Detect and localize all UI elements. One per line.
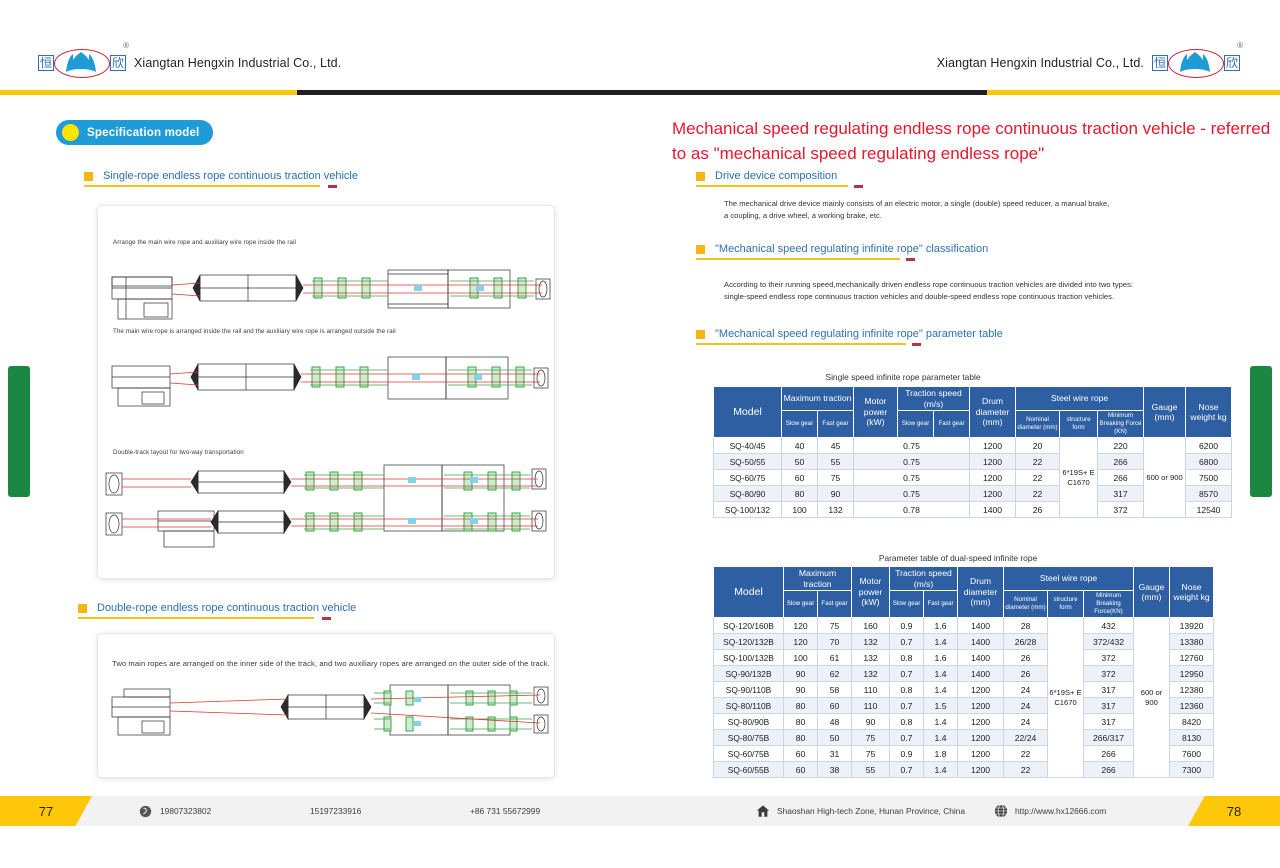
cell-breaking-force: 266 xyxy=(1084,746,1134,762)
cell-nominal-diameter: 22 xyxy=(1016,454,1060,470)
section-double-rope: Double-rope endless rope continuous trac… xyxy=(78,602,356,620)
table-row: SQ-40/4540450.751200206*19S+ E C16702206… xyxy=(714,438,1232,454)
cell-nose-weight: 7300 xyxy=(1170,762,1214,778)
footer-phone3: +86 731 55672999 xyxy=(470,796,540,826)
cell-breaking-force: 372 xyxy=(1084,666,1134,682)
catalog-page: 恒 ® 欣 Xiangtan Hengxin Industrial Co., L… xyxy=(0,0,1280,868)
cell-breaking-force: 220 xyxy=(1098,438,1144,454)
single-speed-parameter-table: Model Maximum traction Motor power (kW) … xyxy=(713,386,1232,518)
section-underline xyxy=(78,617,356,620)
cell-model: SQ-90/132B xyxy=(714,666,784,682)
section-single-rope: Single-rope endless rope continuous trac… xyxy=(84,170,358,188)
footer-website[interactable]: http://www.hx12666.com xyxy=(993,796,1106,826)
dual-speed-parameter-table: Model Maximum traction Motor power (kW) … xyxy=(713,566,1214,778)
side-tab-left xyxy=(8,366,30,497)
cell-nominal-diameter: 22 xyxy=(1004,762,1048,778)
diagram-box-single-rope: Arrange the main wire rope and auxiliary… xyxy=(97,205,555,579)
cell-speed-fast: 1.4 xyxy=(924,634,958,650)
section-classification: "Mechanical speed regulating infinite ro… xyxy=(696,243,988,261)
cell-structure-form: 6*19S+ E C1670 xyxy=(1048,618,1084,778)
cell-motor-power-speed: 0.75 xyxy=(854,454,970,470)
cell-model: SQ-80/110B xyxy=(714,698,784,714)
cell-breaking-force: 266/317 xyxy=(1084,730,1134,746)
cell-drum-diameter: 1200 xyxy=(970,470,1016,486)
schematic-drawing-1 xyxy=(98,252,554,352)
divider-black-right xyxy=(642,90,987,95)
th-nominal-diameter: Nominal diameter (mm) xyxy=(1016,411,1060,438)
cell-fast-gear: 58 xyxy=(818,682,852,698)
cell-motor-power: 75 xyxy=(852,730,890,746)
cell-slow-gear: 60 xyxy=(782,470,818,486)
th-max-traction: Maximum traction xyxy=(782,387,854,411)
cell-nose-weight: 13380 xyxy=(1170,634,1214,650)
header-divider xyxy=(0,90,1280,96)
th-steel-wire-rope: Steel wire rope xyxy=(1004,567,1134,591)
cell-slow-gear: 60 xyxy=(784,762,818,778)
cell-nose-weight: 12540 xyxy=(1186,502,1232,518)
cell-model: SQ-120/132B xyxy=(714,634,784,650)
th-motor-power: Motor power (kW) xyxy=(852,567,890,618)
bullet-square-icon xyxy=(78,604,87,613)
cell-nominal-diameter: 22 xyxy=(1016,486,1060,502)
cell-model: SQ-80/90 xyxy=(714,486,782,502)
footer-phone1: 19807323802 xyxy=(138,796,211,826)
th-slow-gear: Slow gear xyxy=(784,591,818,618)
cell-motor-power: 55 xyxy=(852,762,890,778)
section-title: Double-rope endless rope continuous trac… xyxy=(97,602,356,614)
cell-slow-gear: 80 xyxy=(782,486,818,502)
cell-fast-gear: 48 xyxy=(818,714,852,730)
cell-slow-gear: 40 xyxy=(782,438,818,454)
cell-nominal-diameter: 22 xyxy=(1004,746,1048,762)
th-max-traction: Maximum traction xyxy=(784,567,852,591)
cell-motor-power-speed: 0.75 xyxy=(854,438,970,454)
th-gauge: Gauge (mm) xyxy=(1144,387,1186,438)
schematic-drawing-2 xyxy=(98,341,554,441)
cell-fast-gear: 75 xyxy=(818,470,854,486)
cell-nose-weight: 8570 xyxy=(1186,486,1232,502)
cell-nominal-diameter: 26 xyxy=(1016,502,1060,518)
logo-char-right: 欣 xyxy=(1224,55,1240,71)
cell-nose-weight: 6800 xyxy=(1186,454,1232,470)
cell-breaking-force: 266 xyxy=(1098,454,1144,470)
cell-fast-gear: 132 xyxy=(818,502,854,518)
bullet-square-icon xyxy=(696,330,705,339)
th-traction-speed: Traction speed (m/s) xyxy=(898,387,970,411)
cell-nose-weight: 6200 xyxy=(1186,438,1232,454)
th-model: Model xyxy=(714,387,782,438)
cell-motor-power-speed: 0.75 xyxy=(854,470,970,486)
cell-model: SQ-80/75B xyxy=(714,730,784,746)
drive-paragraph: The mechanical drive device mainly consi… xyxy=(724,198,1244,222)
cell-nose-weight: 7500 xyxy=(1186,470,1232,486)
schematic-drawing-4 xyxy=(98,679,554,769)
cell-motor-power: 75 xyxy=(852,746,890,762)
company-name-right: Xiangtan Hengxin Industrial Co., Ltd. xyxy=(937,56,1144,70)
schematic-drawing-3 xyxy=(98,461,554,571)
cell-speed-slow: 0.8 xyxy=(890,682,924,698)
cell-speed-slow: 0.7 xyxy=(890,666,924,682)
cell-nose-weight: 8130 xyxy=(1170,730,1214,746)
cell-drum-diameter: 1400 xyxy=(958,666,1004,682)
home-icon xyxy=(755,804,770,819)
footer-phone1-text: 19807323802 xyxy=(160,806,211,816)
cell-nose-weight: 12950 xyxy=(1170,666,1214,682)
diagram-caption-1: Arrange the main wire rope and auxiliary… xyxy=(113,239,296,246)
th-model: Model xyxy=(714,567,784,618)
cell-slow-gear: 60 xyxy=(784,746,818,762)
cell-speed-slow: 0.7 xyxy=(890,762,924,778)
cell-speed-fast: 1.4 xyxy=(924,714,958,730)
classification-line2: single-speed endless rope continuous tra… xyxy=(724,291,1244,303)
cell-drum-diameter: 1400 xyxy=(958,618,1004,634)
th-nose-weight: Nose weight kg xyxy=(1186,387,1232,438)
cell-speed-fast: 1.4 xyxy=(924,682,958,698)
cell-motor-power: 132 xyxy=(852,634,890,650)
cell-slow-gear: 120 xyxy=(784,618,818,634)
cell-nominal-diameter: 24 xyxy=(1004,682,1048,698)
table1-caption: Single speed infinite rope parameter tab… xyxy=(825,372,980,382)
cell-motor-power: 132 xyxy=(852,650,890,666)
cell-model: SQ-90/110B xyxy=(714,682,784,698)
drive-paragraph-line1: The mechanical drive device mainly consi… xyxy=(724,198,1244,210)
section-underline xyxy=(84,185,358,188)
cell-speed-fast: 1.8 xyxy=(924,746,958,762)
company-logo-icon: 恒 ® 欣 xyxy=(38,48,126,78)
cell-slow-gear: 80 xyxy=(784,698,818,714)
cell-nose-weight: 7600 xyxy=(1170,746,1214,762)
th-traction-speed: Traction speed (m/s) xyxy=(890,567,958,591)
cell-nose-weight: 12360 xyxy=(1170,698,1214,714)
table2-body: SQ-120/160B120751600.91.61400286*19S+ E … xyxy=(714,618,1214,778)
cell-speed-fast: 1.6 xyxy=(924,618,958,634)
footer-phone2-text: 15197233916 xyxy=(310,806,361,816)
header-left-brand: 恒 ® 欣 Xiangtan Hengxin Industrial Co., L… xyxy=(38,48,341,78)
cell-slow-gear: 100 xyxy=(784,650,818,666)
bullet-square-icon xyxy=(84,172,93,181)
cell-nominal-diameter: 22 xyxy=(1016,470,1060,486)
th-slow-gear: Slow gear xyxy=(898,411,934,438)
th-steel-wire-rope: Steel wire rope xyxy=(1016,387,1144,411)
company-logo-icon-right: 恒 ® 欣 xyxy=(1152,48,1240,78)
cell-slow-gear: 80 xyxy=(784,714,818,730)
cell-fast-gear: 55 xyxy=(818,454,854,470)
cell-fast-gear: 61 xyxy=(818,650,852,666)
cell-fast-gear: 38 xyxy=(818,762,852,778)
th-slow-gear: Slow gear xyxy=(890,591,924,618)
section-underline xyxy=(696,343,1003,346)
cell-model: SQ-50/55 xyxy=(714,454,782,470)
cell-model: SQ-80/90B xyxy=(714,714,784,730)
cell-model: SQ-60/75B xyxy=(714,746,784,762)
cell-speed-slow: 0.7 xyxy=(890,730,924,746)
cell-slow-gear: 90 xyxy=(784,666,818,682)
cell-drum-diameter: 1200 xyxy=(970,486,1016,502)
th-fast-gear: Fast gear xyxy=(924,591,958,618)
company-name-left: Xiangtan Hengxin Industrial Co., Ltd. xyxy=(134,56,341,70)
logo-char-right: 欣 xyxy=(110,55,126,71)
page-title: Mechanical speed regulating endless rope… xyxy=(672,116,1272,166)
cell-motor-power: 110 xyxy=(852,682,890,698)
cell-fast-gear: 75 xyxy=(818,618,852,634)
cell-speed-slow: 0.8 xyxy=(890,714,924,730)
pill-dot-icon xyxy=(62,124,79,141)
cell-speed-slow: 0.7 xyxy=(890,634,924,650)
cell-slow-gear: 50 xyxy=(782,454,818,470)
classification-line1: According to their running speed,mechani… xyxy=(724,279,1244,291)
th-min-breaking-force: Minimum Breaking Force(KN) xyxy=(1084,591,1134,618)
cell-nominal-diameter: 28 xyxy=(1004,618,1048,634)
cell-speed-slow: 0.9 xyxy=(890,746,924,762)
cell-nominal-diameter: 24 xyxy=(1004,714,1048,730)
bullet-square-icon xyxy=(696,172,705,181)
section-underline xyxy=(696,258,988,261)
table2-caption: Parameter table of dual-speed infinite r… xyxy=(879,553,1037,563)
cell-drum-diameter: 1200 xyxy=(970,454,1016,470)
cell-nose-weight: 12380 xyxy=(1170,682,1214,698)
cell-model: SQ-60/55B xyxy=(714,762,784,778)
cell-drum-diameter: 1200 xyxy=(958,682,1004,698)
cell-model: SQ-120/160B xyxy=(714,618,784,634)
th-nose-weight: Nose weight kg xyxy=(1170,567,1214,618)
cell-model: SQ-40/45 xyxy=(714,438,782,454)
header-right-brand: Xiangtan Hengxin Industrial Co., Ltd. 恒 … xyxy=(937,48,1240,78)
diagram-box-double-rope: Two main ropes are arranged on the inner… xyxy=(97,633,555,778)
drive-paragraph-line2: a coupling, a drive wheel, a working bra… xyxy=(724,210,1244,222)
registered-mark: ® xyxy=(123,41,129,50)
footer-website-text: http://www.hx12666.com xyxy=(1015,806,1106,816)
cell-nominal-diameter: 24 xyxy=(1004,698,1048,714)
logo-char-left: 恒 xyxy=(1152,55,1168,71)
th-structure-form: structure form xyxy=(1060,411,1098,438)
phone-icon xyxy=(138,804,153,819)
th-min-breaking-force: Minimum Breaking Force (KN) xyxy=(1098,411,1144,438)
cell-breaking-force: 317 xyxy=(1084,698,1134,714)
cell-breaking-force: 372/432 xyxy=(1084,634,1134,650)
divider-yellow-right xyxy=(987,90,1280,95)
cell-structure-form: 6*19S+ E C1670 xyxy=(1060,438,1098,518)
cell-fast-gear: 60 xyxy=(818,698,852,714)
cell-model: SQ-60/75 xyxy=(714,470,782,486)
page-header: 恒 ® 欣 Xiangtan Hengxin Industrial Co., L… xyxy=(0,0,1280,94)
cell-nominal-diameter: 26 xyxy=(1004,666,1048,682)
th-structure-form: structure form xyxy=(1048,591,1084,618)
cell-slow-gear: 80 xyxy=(784,730,818,746)
specification-model-pill: Specification model xyxy=(56,120,213,145)
section-title: "Mechanical speed regulating infinite ro… xyxy=(715,243,988,255)
logo-mountain-icon xyxy=(62,51,100,75)
bullet-square-icon xyxy=(696,245,705,254)
cell-drum-diameter: 1200 xyxy=(958,762,1004,778)
cell-slow-gear: 120 xyxy=(784,634,818,650)
th-motor-power: Motor power (kW) xyxy=(854,387,898,438)
th-fast-gear: Fast gear xyxy=(934,411,970,438)
cell-gauge: 600 or 900 xyxy=(1144,438,1186,518)
th-drum-diameter: Drum diameter (mm) xyxy=(958,567,1004,618)
th-nominal-diameter: Nominal diameter (mm) xyxy=(1004,591,1048,618)
cell-breaking-force: 432 xyxy=(1084,618,1134,634)
cell-speed-fast: 1.4 xyxy=(924,666,958,682)
table-row: SQ-120/160B120751600.91.61400286*19S+ E … xyxy=(714,618,1214,634)
footer-phone3-text: +86 731 55672999 xyxy=(470,806,540,816)
page-footer: 77 78 19807323802 15197233916 +86 731 55… xyxy=(0,796,1280,868)
cell-speed-slow: 0.8 xyxy=(890,650,924,666)
cell-model: SQ-100/132B xyxy=(714,650,784,666)
cell-speed-fast: 1.6 xyxy=(924,650,958,666)
cell-slow-gear: 100 xyxy=(782,502,818,518)
cell-drum-diameter: 1200 xyxy=(958,698,1004,714)
cell-speed-fast: 1.5 xyxy=(924,698,958,714)
cell-speed-fast: 1.4 xyxy=(924,762,958,778)
cell-motor-power: 132 xyxy=(852,666,890,682)
cell-model: SQ-100/132 xyxy=(714,502,782,518)
diagram-caption-4: Two main ropes are arranged on the inner… xyxy=(112,659,550,668)
cell-drum-diameter: 1400 xyxy=(970,502,1016,518)
cell-drum-diameter: 1200 xyxy=(958,746,1004,762)
registered-mark: ® xyxy=(1237,41,1243,50)
cell-breaking-force: 317 xyxy=(1084,682,1134,698)
th-gauge: Gauge (mm) xyxy=(1134,567,1170,618)
cell-breaking-force: 372 xyxy=(1084,650,1134,666)
section-drive-device: Drive device composition xyxy=(696,170,837,188)
footer-address-text: Shaoshan High-tech Zone, Hunan Province,… xyxy=(777,806,965,816)
cell-gauge: 600 or 900 xyxy=(1134,618,1170,778)
cell-fast-gear: 50 xyxy=(818,730,852,746)
cell-speed-slow: 0.9 xyxy=(890,618,924,634)
table1-body: SQ-40/4540450.751200206*19S+ E C16702206… xyxy=(714,438,1232,518)
cell-breaking-force: 266 xyxy=(1084,762,1134,778)
logo-char-left: 恒 xyxy=(38,55,54,71)
cell-motor-power: 160 xyxy=(852,618,890,634)
cell-slow-gear: 90 xyxy=(784,682,818,698)
cell-breaking-force: 317 xyxy=(1098,486,1144,502)
cell-nominal-diameter: 26/28 xyxy=(1004,634,1048,650)
cell-drum-diameter: 1400 xyxy=(958,650,1004,666)
cell-drum-diameter: 1400 xyxy=(958,634,1004,650)
cell-fast-gear: 45 xyxy=(818,438,854,454)
globe-icon xyxy=(993,804,1008,819)
divider-yellow-left xyxy=(0,90,297,95)
cell-drum-diameter: 1200 xyxy=(970,438,1016,454)
cell-nominal-diameter: 20 xyxy=(1016,438,1060,454)
cell-speed-fast: 1.4 xyxy=(924,730,958,746)
cell-fast-gear: 62 xyxy=(818,666,852,682)
section-title: "Mechanical speed regulating infinite ro… xyxy=(715,328,1003,340)
cell-drum-diameter: 1200 xyxy=(958,730,1004,746)
cell-nominal-diameter: 22/24 xyxy=(1004,730,1048,746)
cell-motor-power: 110 xyxy=(852,698,890,714)
section-title: Single-rope endless rope continuous trac… xyxy=(103,170,358,182)
cell-fast-gear: 70 xyxy=(818,634,852,650)
th-slow-gear: Slow gear xyxy=(782,411,818,438)
cell-breaking-force: 317 xyxy=(1084,714,1134,730)
classification-paragraph: According to their running speed,mechani… xyxy=(724,279,1244,303)
diagram-caption-3: Double-track layout for two-way transpor… xyxy=(113,449,244,456)
cell-nose-weight: 8420 xyxy=(1170,714,1214,730)
cell-motor-power-speed: 0.75 xyxy=(854,486,970,502)
footer-address: Shaoshan High-tech Zone, Hunan Province,… xyxy=(755,796,965,826)
section-parameter-table: "Mechanical speed regulating infinite ro… xyxy=(696,328,1003,346)
section-title: Drive device composition xyxy=(715,170,837,182)
cell-breaking-force: 266 xyxy=(1098,470,1144,486)
cell-nose-weight: 12760 xyxy=(1170,650,1214,666)
side-tab-right xyxy=(1250,366,1272,497)
footer-phone2: 15197233916 xyxy=(310,796,361,826)
th-fast-gear: Fast gear xyxy=(818,411,854,438)
cell-motor-power-speed: 0.78 xyxy=(854,502,970,518)
cell-speed-slow: 0.7 xyxy=(890,698,924,714)
section-underline xyxy=(696,185,837,188)
cell-nose-weight: 13920 xyxy=(1170,618,1214,634)
cell-drum-diameter: 1200 xyxy=(958,714,1004,730)
logo-mountain-icon xyxy=(1176,51,1214,75)
cell-fast-gear: 31 xyxy=(818,746,852,762)
pill-label: Specification model xyxy=(87,127,199,139)
th-fast-gear: Fast gear xyxy=(818,591,852,618)
divider-black-left xyxy=(297,90,642,95)
cell-breaking-force: 372 xyxy=(1098,502,1144,518)
cell-fast-gear: 90 xyxy=(818,486,854,502)
cell-nominal-diameter: 26 xyxy=(1004,650,1048,666)
cell-motor-power: 90 xyxy=(852,714,890,730)
th-drum-diameter: Drum diameter (mm) xyxy=(970,387,1016,438)
